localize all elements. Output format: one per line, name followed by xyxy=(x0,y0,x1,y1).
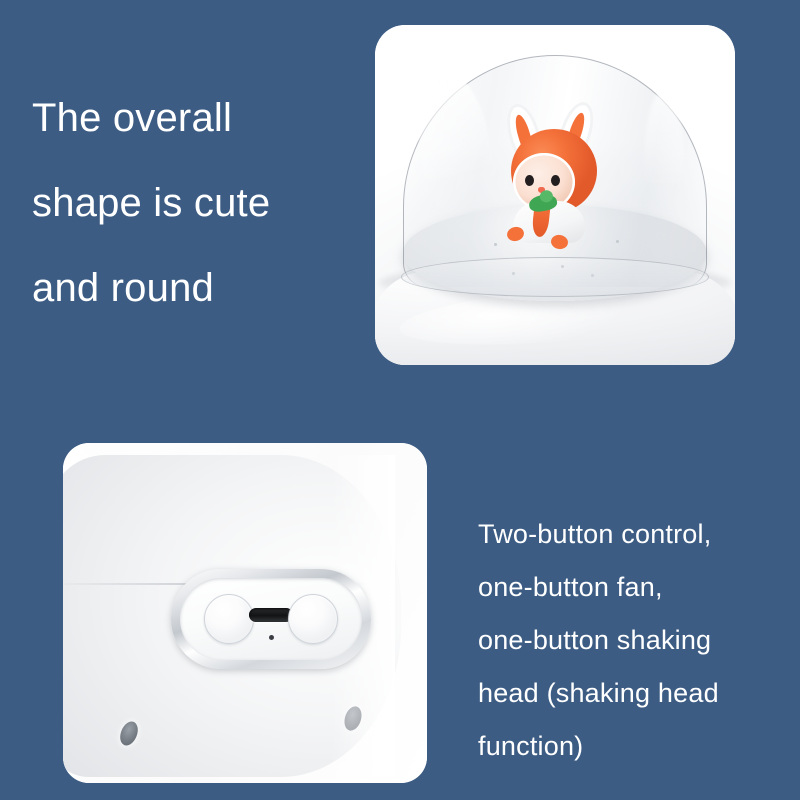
usb-c-port-icon xyxy=(249,608,293,622)
fan-button[interactable] xyxy=(204,594,254,644)
headline-primary-line-3: and round xyxy=(32,246,362,331)
headline-secondary-line-4: head (shaking head xyxy=(478,667,778,720)
led-indicator xyxy=(269,635,274,640)
control-panel xyxy=(171,569,371,669)
bunny-figurine xyxy=(495,103,613,243)
headline-secondary-line-1: Two-button control, xyxy=(478,508,778,561)
headline-secondary-line-5: function) xyxy=(478,720,778,773)
product-feature-page: The overall shape is cute and round xyxy=(0,0,800,800)
headline-secondary-line-2: one-button fan, xyxy=(478,561,778,614)
page-title-primary: The overall shape is cute and round xyxy=(32,76,362,331)
dome-photo-stage xyxy=(375,25,735,365)
dome-rim xyxy=(401,257,709,297)
bunny-eye-left xyxy=(525,175,534,186)
product-photo-dome xyxy=(375,25,735,365)
product-photo-controls xyxy=(63,443,427,783)
page-title-secondary: Two-button control, one-button fan, one-… xyxy=(478,508,778,773)
headline-primary-line-1: The overall xyxy=(32,76,362,161)
headline-primary-line-2: shape is cute xyxy=(32,161,362,246)
bunny-eye-right xyxy=(551,175,560,186)
headline-secondary-line-3: one-button shaking xyxy=(478,614,778,667)
control-panel-inner xyxy=(180,578,362,660)
shaking-head-button[interactable] xyxy=(288,594,338,644)
controls-photo-stage xyxy=(63,443,427,783)
